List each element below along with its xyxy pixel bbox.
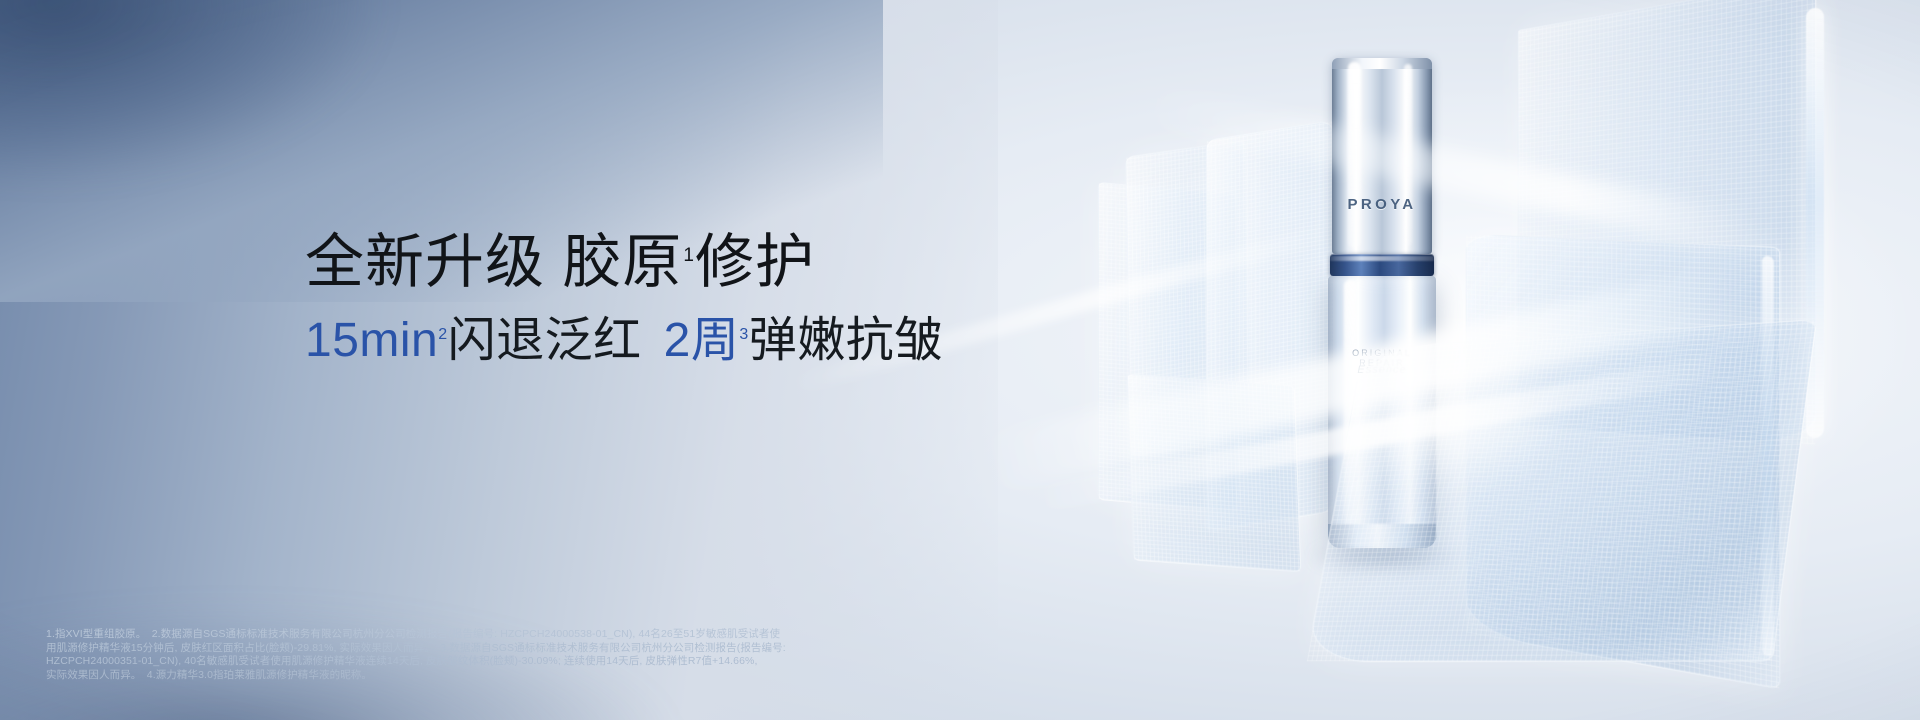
legal-footnotes: 1.指XVI型重组胶原。 2.数据源自SGS通标标准技术服务有限公司杭州分公司检… [46, 628, 1226, 682]
footnote-line: 用肌源修护精华液15分钟后, 皮肤红区面积占比(脸颊)-29.81%, 实际效果… [46, 642, 1226, 656]
footnote-line: 1.指XVI型重组胶原。 2.数据源自SGS通标标准技术服务有限公司杭州分公司检… [46, 628, 1226, 642]
metric-one-label: 闪退泛红 [448, 314, 642, 367]
headline-tail: 修护 [695, 229, 815, 295]
headline-footnote-ref: 1 [683, 245, 695, 266]
metric-two-footnote-ref: 3 [739, 326, 748, 343]
footnote-line: 实际效果因人而异。 4.源力精华3.0指珀莱雅肌源修护精华液的昵称。 [46, 669, 1226, 683]
footnote-line: HZCPCH24000351-01_CN), 40名敏感肌受试者使用肌源修护精华… [46, 655, 1226, 669]
metric-two-value: 2周 [664, 314, 740, 367]
headline-main: 全新升级 胶原 [305, 229, 682, 295]
metric-two-label: 弹嫩抗皱 [749, 314, 943, 367]
marketing-copy: 全新升级 胶原1修护 15min2闪退泛红2周3弹嫩抗皱 [305, 228, 1065, 369]
page-title: 全新升级 胶原1修护 [305, 228, 1065, 298]
metric-one-value: 15min [305, 314, 438, 367]
banner-stage: PROYA ORIGINAL REPAIR Essence 全新升级 胶原1修护… [0, 0, 1920, 720]
metric-one-footnote-ref: 2 [438, 326, 447, 343]
subtitle: 15min2闪退泛红2周3弹嫩抗皱 [305, 312, 1065, 370]
